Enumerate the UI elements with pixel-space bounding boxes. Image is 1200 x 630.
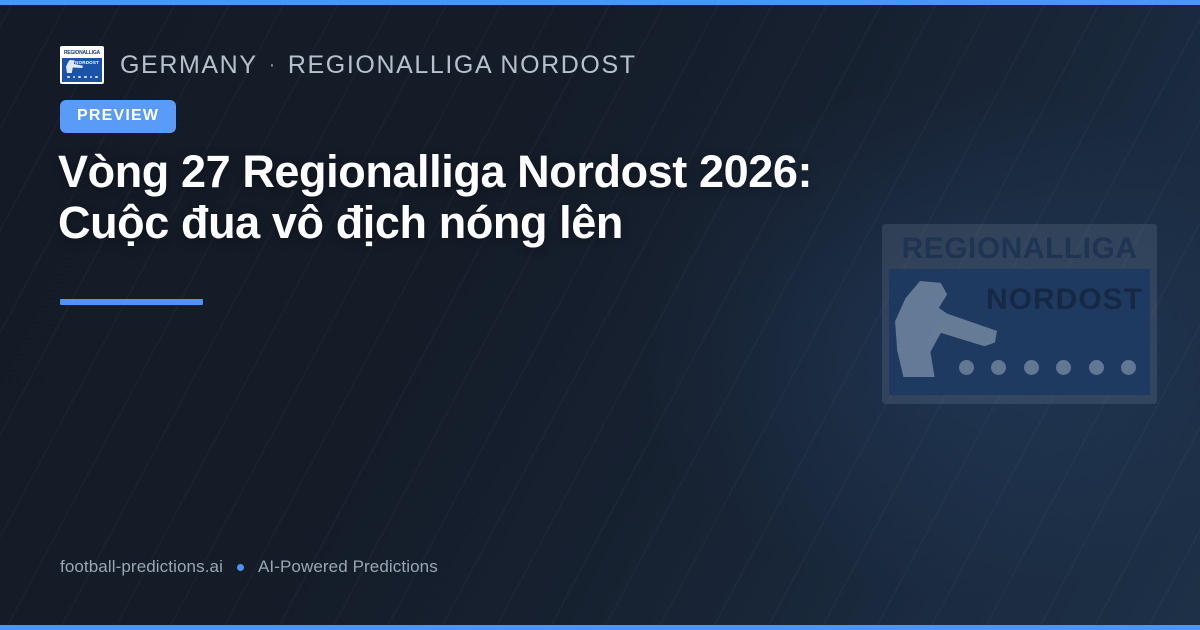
bullet-icon <box>237 564 244 571</box>
crest-dots <box>67 76 98 79</box>
dot-icon <box>95 76 98 79</box>
dot-icon <box>1121 360 1136 375</box>
breadcrumb-country: GERMANY <box>120 51 258 80</box>
crest-top-label: REGIONALLIGA <box>62 48 102 58</box>
watermark-subtitle: NORDOST <box>985 283 1144 317</box>
watermark-dots <box>959 360 1136 375</box>
watermark-panel: NORDOST <box>889 269 1150 395</box>
dot-icon <box>67 76 70 79</box>
crest-sub-label: NORDOST <box>75 60 99 65</box>
footer: football-predictions.ai AI-Powered Predi… <box>60 557 438 577</box>
share-card-canvas: REGIONALLIGA NORDOST REGIONALLIGA NORDOS… <box>0 0 1200 630</box>
page-title-line-2: Cuộc đua vô địch nóng lên <box>58 197 623 248</box>
league-crest-icon: REGIONALLIGA NORDOST <box>60 46 104 84</box>
footer-site: football-predictions.ai <box>60 557 223 577</box>
page-title-line-1: Vòng 27 Regionalliga Nordost 2026: <box>58 146 812 197</box>
footer-tagline: AI-Powered Predictions <box>258 557 438 577</box>
breadcrumb: REGIONALLIGA NORDOST GERMANY · REGIONALL… <box>60 46 637 84</box>
dot-icon <box>1056 360 1071 375</box>
dot-icon <box>1089 360 1104 375</box>
page-title: Vòng 27 Regionalliga Nordost 2026: Cuộc … <box>58 146 878 248</box>
breadcrumb-competition: REGIONALLIGA NORDOST <box>288 51 637 80</box>
league-crest-watermark: REGIONALLIGA NORDOST <box>882 224 1157 404</box>
bottom-accent-bar <box>0 625 1200 630</box>
dot-icon <box>73 76 76 79</box>
top-accent-bar <box>0 0 1200 5</box>
dot-icon <box>1024 360 1039 375</box>
dot-icon <box>84 76 87 79</box>
dot-icon <box>991 360 1006 375</box>
watermark-title: REGIONALLIGA <box>889 231 1150 267</box>
dot-icon <box>90 76 93 79</box>
dot-icon <box>78 76 81 79</box>
title-divider <box>60 299 203 305</box>
breadcrumb-text: GERMANY · REGIONALLIGA NORDOST <box>120 51 637 80</box>
dot-icon <box>959 360 974 375</box>
status-badge: PREVIEW <box>60 100 176 133</box>
breadcrumb-separator: · <box>269 54 277 77</box>
